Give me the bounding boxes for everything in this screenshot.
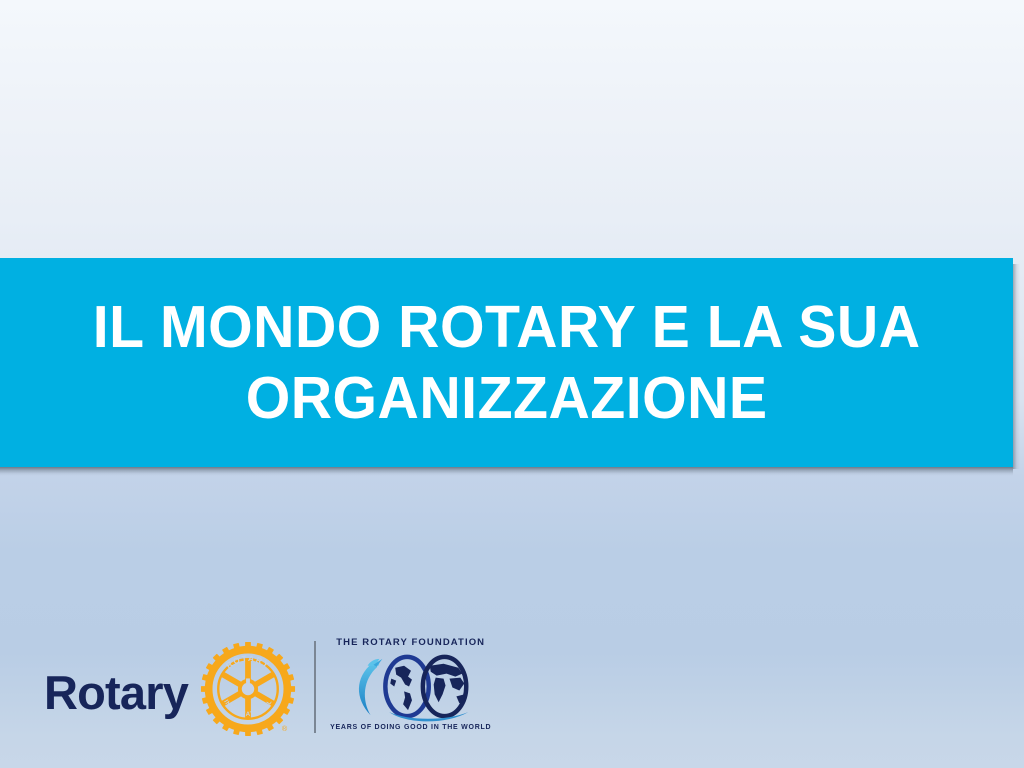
presentation-slide: IL MONDO ROTARY E LA SUA ORGANIZZAZIONE …: [0, 0, 1024, 768]
foundation-name-label: THE ROTARY FOUNDATION: [336, 637, 485, 648]
registered-trademark-icon: ®: [282, 724, 288, 733]
logo-divider: [314, 641, 316, 733]
rotary-logo-lockup: Rotary: [44, 622, 484, 740]
title-band-shadow: [0, 467, 1013, 476]
rotary-wordmark: Rotary: [44, 647, 200, 716]
title-band: IL MONDO ROTARY E LA SUA ORGANIZZAZIONE: [0, 258, 1013, 467]
foundation-tagline-label: YEARS OF DOING GOOD IN THE WORLD: [330, 724, 491, 731]
rotary-wheel-icon: ROTARY INTERNATIONAL ®: [200, 641, 296, 737]
foundation-centennial-100-icon: [341, 649, 481, 723]
rotary-international-logo: Rotary: [44, 622, 296, 740]
rotary-foundation-logo: THE ROTARY FOUNDATION: [330, 631, 491, 731]
title-band-shadow-right: [1013, 264, 1020, 469]
slide-title: IL MONDO ROTARY E LA SUA ORGANIZZAZIONE: [54, 292, 959, 432]
